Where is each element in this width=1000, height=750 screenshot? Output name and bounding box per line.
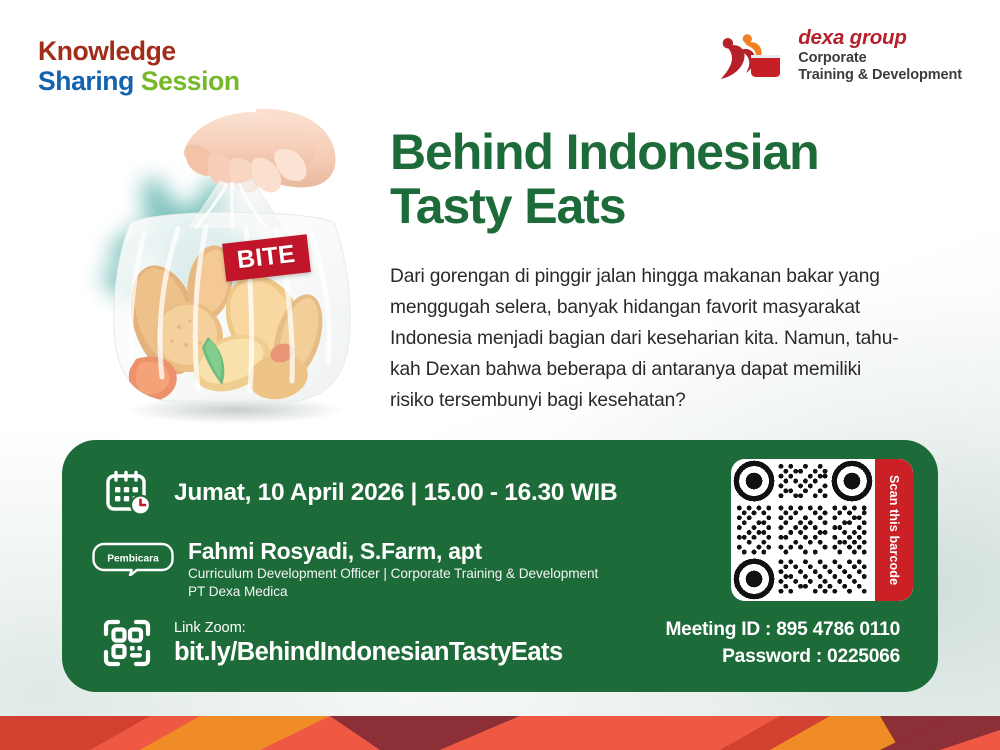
footer-geometric-strip (0, 716, 1000, 750)
dexa-group-logo: dexa group Corporate Training & Developm… (718, 26, 962, 83)
speaker-role: Curriculum Development Officer | Corpora… (188, 565, 598, 583)
kss-session-text: Session (141, 66, 240, 96)
speaker-info: Fahmi Rosyadi, S.Farm, apt Curriculum De… (188, 538, 598, 601)
scan-barcode-label: Scan this barcode (887, 475, 901, 585)
page-title: Behind Indonesian Tasty Eats (390, 125, 910, 233)
dexa-logo-subtitle-1: Corporate (798, 50, 962, 67)
date-time-row: Jumat, 10 April 2026 | 15.00 - 16.30 WIB (104, 468, 617, 518)
knowledge-sharing-session-wordmark: Knowledge Sharing Session (38, 36, 240, 96)
qr-scan-icon (102, 618, 152, 668)
hero-image: BITE (60, 105, 400, 435)
dexa-brand-name: dexa group (798, 26, 962, 50)
speaker-row: Pembicara Fahmi Rosyadi, S.Farm, apt Cur… (92, 538, 598, 601)
svg-text:Pembicara: Pembicara (107, 554, 159, 565)
meeting-password: Password : 0225066 (665, 643, 900, 670)
qr-code-icon[interactable] (731, 459, 875, 601)
body-paragraph: Dari gorengan di pinggir jalan hingga ma… (390, 261, 902, 416)
kss-line-2: Sharing Session (38, 66, 240, 96)
pembicara-badge: Pembicara (92, 542, 174, 576)
kss-sharing-text: Sharing (38, 66, 134, 96)
poster-canvas: Knowledge Sharing Session dexa group Cor… (0, 0, 1000, 750)
kss-line-1: Knowledge (38, 36, 240, 66)
scan-barcode-tab: Scan this barcode (875, 459, 913, 601)
calendar-clock-icon (104, 468, 154, 518)
speaker-organization: PT Dexa Medica (188, 583, 598, 601)
kss-knowledge-text: Knowledge (38, 36, 176, 66)
dexa-logo-subtitle-2: Training & Development (798, 67, 962, 84)
event-datetime: Jumat, 10 April 2026 | 15.00 - 16.30 WIB (174, 479, 617, 507)
speaker-name: Fahmi Rosyadi, S.Farm, apt (188, 538, 598, 565)
dexa-people-logo-icon (718, 27, 786, 83)
zoom-link-row[interactable]: Link Zoom: bit.ly/BehindIndonesianTastyE… (102, 618, 563, 668)
event-details-panel: Jumat, 10 April 2026 | 15.00 - 16.30 WIB… (62, 440, 938, 692)
zoom-link-url[interactable]: bit.ly/BehindIndonesianTastyEats (174, 638, 563, 667)
meeting-credentials: Meeting ID : 895 4786 0110 Password : 02… (665, 616, 900, 671)
zoom-link-text[interactable]: Link Zoom: bit.ly/BehindIndonesianTastyE… (174, 619, 563, 667)
meeting-id: Meeting ID : 895 4786 0110 (665, 616, 900, 643)
qr-code-block[interactable]: Scan this barcode (731, 459, 913, 601)
dexa-logo-text: dexa group Corporate Training & Developm… (798, 26, 962, 83)
zoom-link-label: Link Zoom: (174, 619, 563, 638)
